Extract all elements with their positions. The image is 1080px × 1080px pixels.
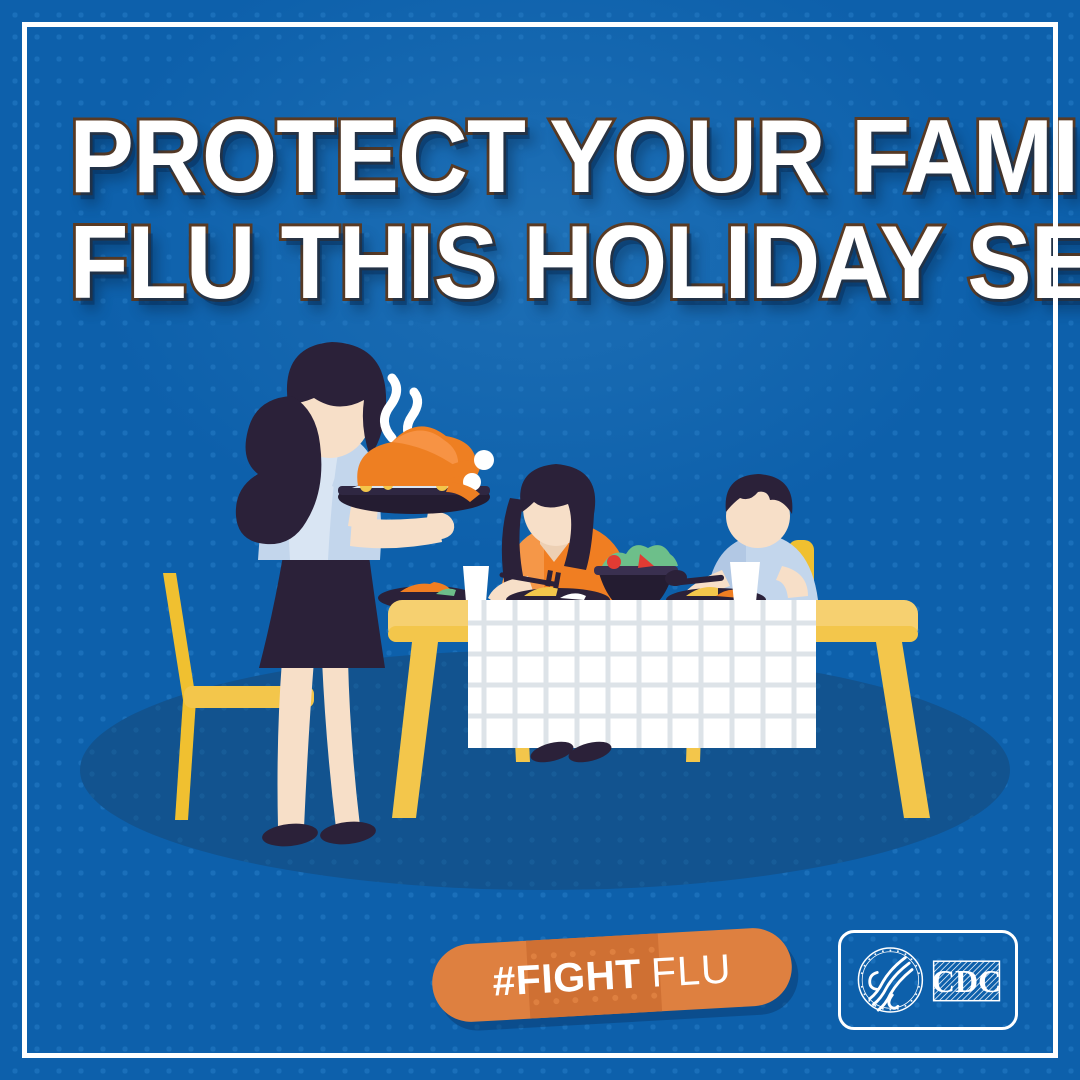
headline-line-2: FLU THIS HOLIDAY SEASON! bbox=[69, 214, 1010, 314]
bandage-hashtag: #FIGHT bbox=[491, 950, 642, 1005]
bandage-word: FLU bbox=[650, 945, 733, 996]
tablecloth bbox=[468, 600, 816, 748]
headline: PROTECT YOUR FAMILY FROM FLU THIS HOLIDA… bbox=[0, 108, 1080, 314]
fight-flu-bandage-badge[interactable]: #FIGHT FLU bbox=[430, 926, 794, 1024]
hhs-seal-icon bbox=[858, 948, 922, 1012]
headline-line-1: PROTECT YOUR FAMILY FROM bbox=[69, 108, 1010, 208]
cdc-wordmark: CDC bbox=[932, 961, 1001, 1000]
bandage-text: #FIGHT FLU bbox=[430, 926, 794, 1024]
glass-left bbox=[463, 566, 489, 602]
footer: #FIGHT FLU bbox=[0, 922, 1080, 1042]
cdc-label: CDC bbox=[932, 964, 1001, 999]
cdc-logo[interactable]: CDC bbox=[838, 930, 1018, 1030]
glass-right bbox=[730, 562, 760, 602]
poster-canvas: PROTECT YOUR FAMILY FROM FLU THIS HOLIDA… bbox=[0, 0, 1080, 1080]
